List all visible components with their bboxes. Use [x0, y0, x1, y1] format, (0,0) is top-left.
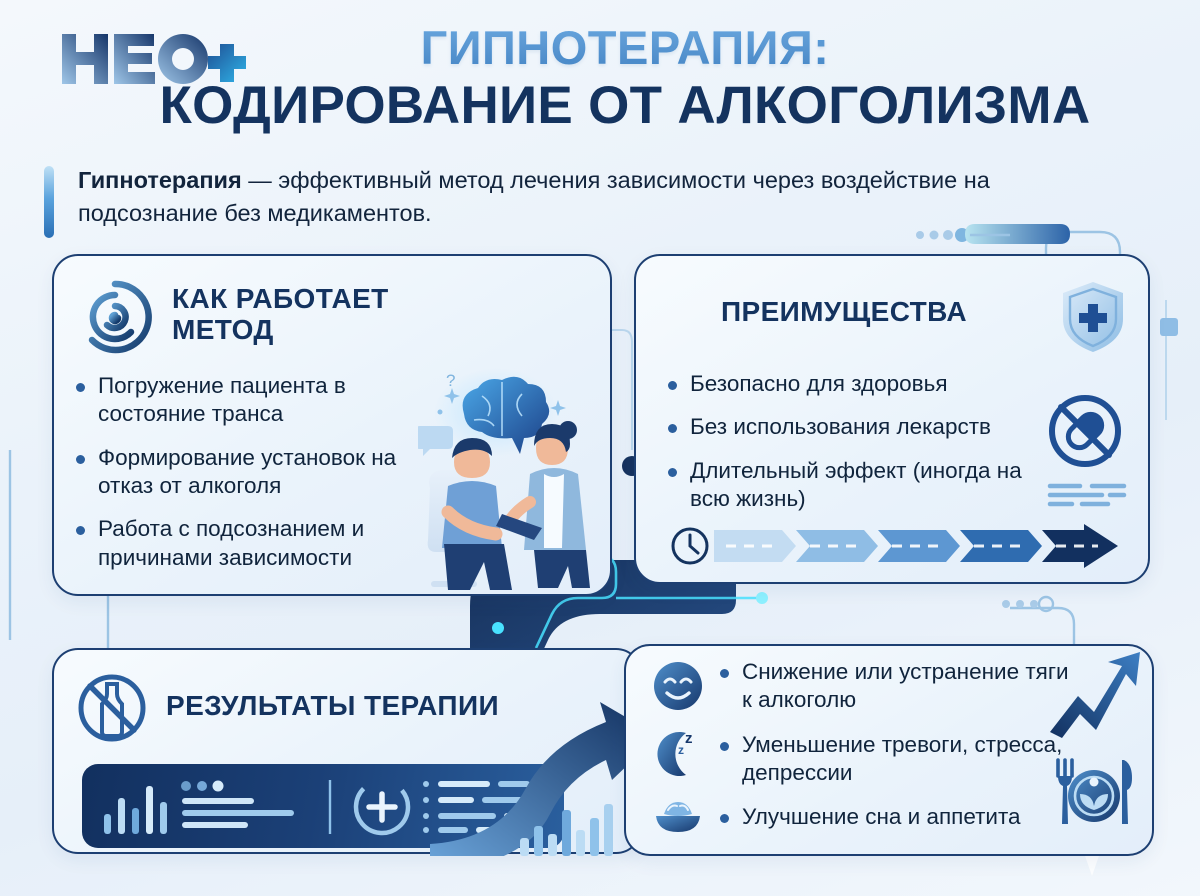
list-item: Улучшение сна и аппетита: [716, 803, 1076, 831]
svg-text:?: ?: [446, 371, 455, 390]
no-alcohol-icon: [76, 672, 148, 744]
list-item: Формирование установок на отказ от алког…: [72, 444, 442, 501]
list-item: Снижение или устранение тяги к алкоголю: [716, 658, 1076, 715]
trending-up-icon: [1046, 648, 1142, 744]
list-item: Безопасно для здоровья: [664, 370, 1054, 398]
svg-text:z: z: [678, 743, 684, 757]
outcomes-bullet-list: Снижение или устранение тяги к алкоголю …: [716, 658, 1076, 848]
bar-chart-icon: [518, 800, 630, 856]
healthy-meal-icon: [1050, 756, 1138, 830]
food-bowl-icon: [652, 788, 704, 840]
sleep-moon-icon: z z: [652, 727, 704, 779]
title-line-2: КОДИРОВАНИЕ ОТ АЛКОГОЛИЗМА: [80, 77, 1170, 135]
infographic-canvas: ГИПНОТЕРАПИЯ: КОДИРОВАНИЕ ОТ АЛКОГОЛИЗМА…: [0, 0, 1200, 896]
page-title: ГИПНОТЕРАПИЯ: КОДИРОВАНИЕ ОТ АЛКОГОЛИЗМА: [80, 22, 1170, 135]
list-item: Длительный эффект (иногда на всю жизнь): [664, 457, 1054, 514]
shield-plus-icon: [1060, 280, 1126, 354]
hypnosis-spiral-icon: [76, 278, 154, 356]
subtitle: Гипнотерапия — эффективный метод лечения…: [78, 164, 1088, 231]
list-item: Работа с подсознанием и причинами зависи…: [72, 515, 442, 572]
subtitle-lead: Гипнотерапия: [78, 167, 242, 193]
method-bullet-list: Погружение пациента в состояние транса Ф…: [72, 372, 442, 587]
benefits-bullet-list: Безопасно для здоровья Без использования…: [664, 370, 1054, 528]
svg-text:z: z: [685, 730, 693, 747]
long-effect-progress-arrow: [670, 524, 1134, 568]
title-line-1: ГИПНОТЕРАПИЯ:: [80, 22, 1170, 75]
therapy-session-illustration: ?: [418, 362, 638, 594]
calm-face-icon: [652, 660, 704, 712]
list-item: Уменьшение тревоги, стресса, депрессии: [716, 731, 1076, 788]
text-lines-icon: [1046, 482, 1128, 508]
method-card-title: КАК РАБОТАЕТ МЕТОД: [172, 283, 472, 346]
plus-circle-icon: [345, 770, 418, 843]
benefits-card-title: ПРЕИМУЩЕСТВА: [634, 296, 1054, 327]
list-item: Без использования лекарств: [664, 413, 1054, 441]
list-item: Погружение пациента в состояние транса: [72, 372, 442, 429]
subtitle-accent-bar: [44, 166, 54, 238]
list-lines-icon: [181, 781, 294, 829]
no-pills-icon: [1046, 392, 1124, 470]
bar-chart-icon: [104, 786, 167, 834]
